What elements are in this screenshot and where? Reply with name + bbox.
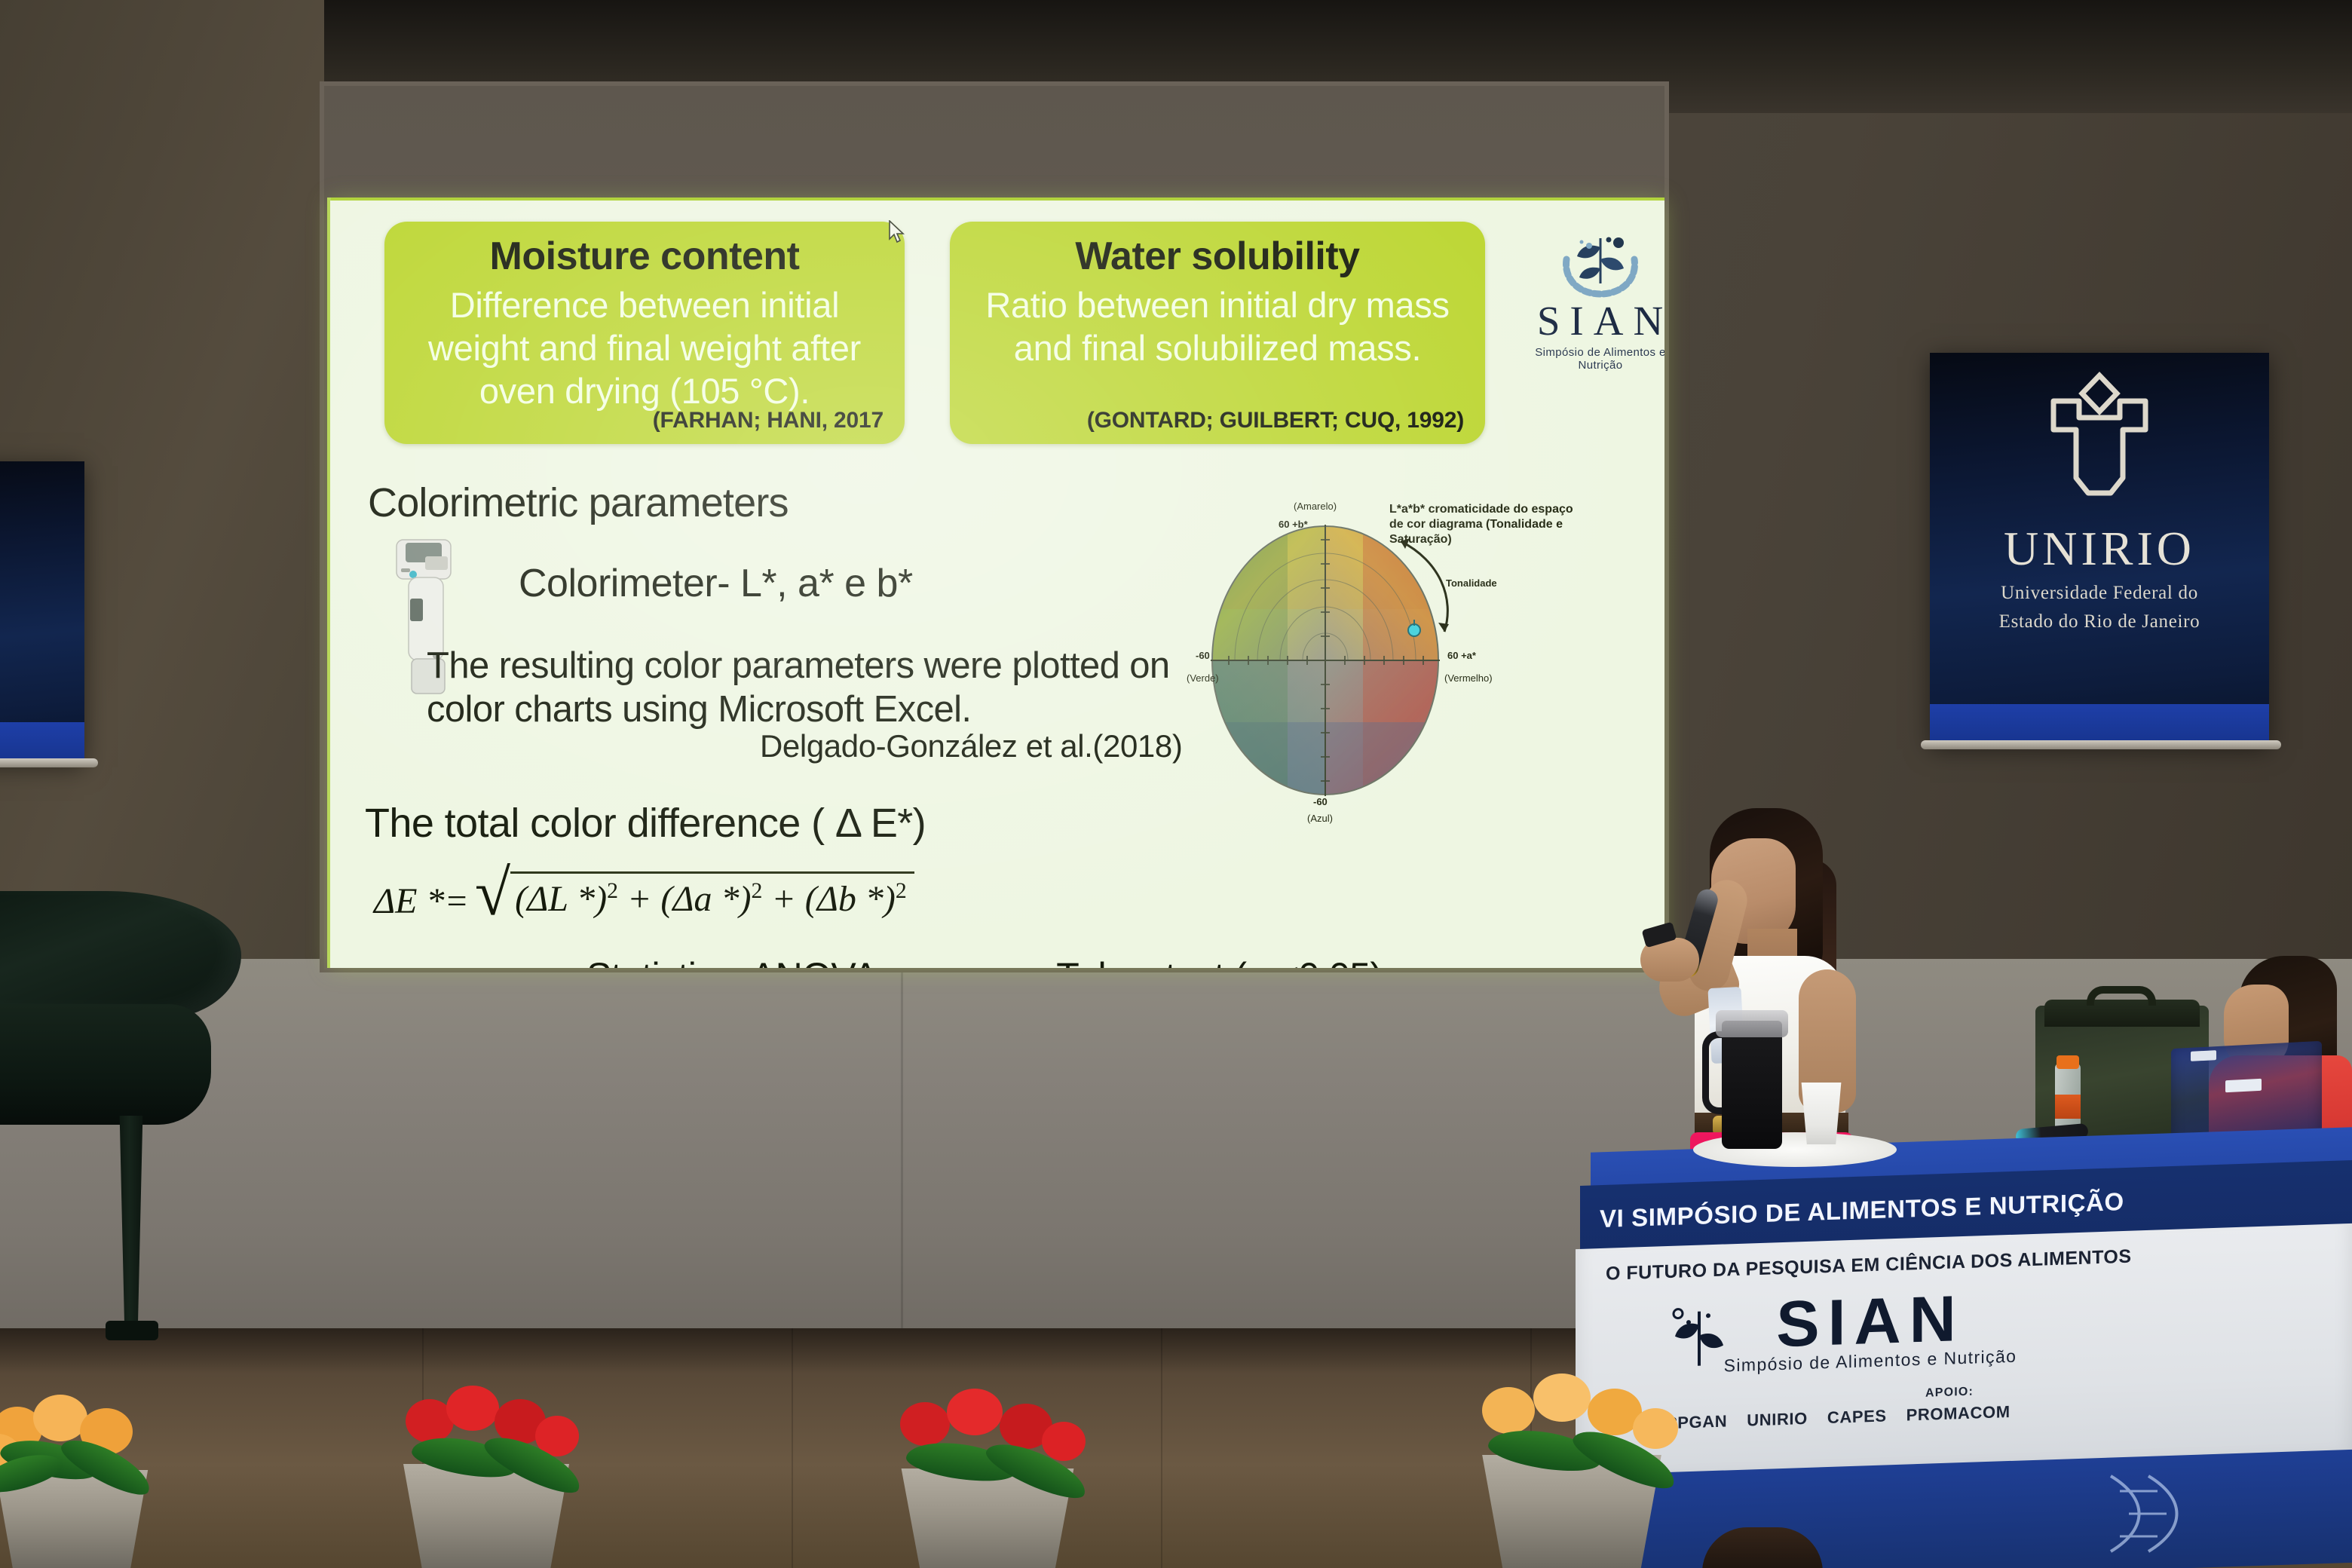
mouse-cursor-arrow-icon: [888, 220, 908, 244]
unirio-wordmark: UNIRIO: [1930, 521, 2269, 577]
orange-bloom: [1533, 1374, 1591, 1422]
lab-axis-left-value: -60: [1196, 650, 1210, 661]
red-bloom: [947, 1389, 1003, 1435]
moisture-content-title: Moisture content: [404, 234, 885, 279]
slide-sian-subtitle: Simpósio de Alimentos e Nutrição: [1515, 346, 1664, 372]
lab-axis-top-value: 60 +b*: [1279, 519, 1308, 530]
formula-term-2-exp: 2: [751, 878, 762, 903]
moisture-content-body: Difference between initial weight and fi…: [404, 283, 885, 412]
total-color-difference-heading: The total color difference ( Δ E*): [365, 800, 926, 847]
flower-planter-orange-left: [0, 1387, 211, 1568]
briefcase-handle: [2087, 986, 2156, 1006]
moisture-content-box: Moisture content Difference between init…: [384, 222, 905, 444]
unirio-subtitle-line2: Estado do Rio de Janeiro: [1930, 610, 2269, 634]
flower-planter-orange-right: [1470, 1372, 1726, 1568]
formula-term-3-base: (Δb *): [805, 879, 896, 919]
red-bloom: [900, 1402, 950, 1446]
unirio-banner-left: DO RO: [0, 461, 84, 763]
dna-helix-icon: [2103, 1468, 2246, 1559]
red-bloom: [446, 1386, 499, 1431]
statistics-line: Statistics: ANOVA one-way - Tukey test (…: [586, 954, 1382, 968]
laptop-sticker-small: [2191, 1050, 2216, 1061]
radical-sign-glyph: √: [475, 870, 510, 920]
symposium-title: VI SIMPÓSIO DE ALIMENTOS E NUTRIÇÃO: [1600, 1179, 2352, 1233]
unirio-crest-icon: [2028, 371, 2171, 518]
delta-e-formula: ΔE *= √ (ΔL *)2 + (Δa *)2 + (Δb *)2: [374, 870, 914, 922]
floor-plank-line: [1161, 1328, 1162, 1568]
wall-panel-seam: [901, 965, 903, 1342]
slide-sian-wordmark: SIAN: [1515, 297, 1664, 345]
sprout-leaf-icon: [1666, 1301, 1731, 1373]
lab-axis-bottom-value: -60: [1313, 796, 1328, 807]
formula-term-3-exp: 2: [896, 878, 907, 903]
unirio-subtitle-line1: Universidade Federal do: [1930, 581, 2269, 605]
water-solubility-citation: (GONTARD; GUILBERT; CUQ, 1992): [1087, 408, 1464, 433]
lab-axis-top-name: (Amarelo): [1294, 501, 1337, 512]
lab-tonalidade-arrow-label: Tonalidade: [1446, 577, 1497, 589]
water-solubility-title: Water solubility: [969, 234, 1465, 279]
table-sian-logo: SIAN Simpósio de Alimentos e Nutrição: [1716, 1284, 2025, 1377]
symposium-theme: O FUTURO DA PESQUISA EM CIÊNCIA DOS ALIM…: [1606, 1239, 2351, 1285]
unirio-left-line2: RO: [0, 666, 84, 691]
unirio-banner-blue-footer: [1930, 704, 2269, 745]
water-bottle-cap: [2056, 1055, 2079, 1069]
lab-axis-right-value: 60 +a*: [1447, 650, 1476, 661]
lab-axis-left-name: (Verde): [1187, 672, 1219, 684]
lab-axis-bottom-name: (Azul): [1307, 813, 1333, 824]
lab-diagram-caption: L*a*b* cromaticidade do espaço de cor di…: [1389, 502, 1585, 547]
formula-term-1-exp: 2: [607, 878, 618, 903]
presentation-photo-scene: Moisture content Difference between init…: [0, 0, 2352, 1568]
apoio-label: APOIO:: [1925, 1386, 1974, 1401]
moisture-content-citation: (FARHAN; HANI, 2017: [653, 408, 884, 433]
grand-piano-body: [0, 1004, 211, 1125]
formula-left-hand-side: ΔE *=: [374, 870, 469, 922]
formula-term-1-base: (ΔL *): [515, 879, 607, 919]
square-root-radical: √ (ΔL *)2 + (Δa *)2 + (Δb *)2: [475, 870, 914, 920]
floor-plank-line: [792, 1328, 793, 1568]
excel-plot-note: The resulting color parameters were plot…: [427, 644, 1188, 731]
water-solubility-body: Ratio between initial dry mass and final…: [969, 283, 1465, 369]
unirio-banner-left-content: DO RO: [0, 633, 84, 691]
sponsor-logo-promacom: PROMACOM: [1906, 1402, 2011, 1426]
unirio-banner-content: UNIRIO Universidade Federal do Estado do…: [1930, 371, 2269, 634]
grand-piano-caster: [106, 1321, 158, 1340]
slide-sian-logo: SIAN Simpósio de Alimentos e Nutrição: [1515, 225, 1664, 372]
unirio-banner-right: UNIRIO Universidade Federal do Estado do…: [1930, 353, 2269, 745]
water-solubility-box: Water solubility Ratio between initial d…: [950, 222, 1485, 444]
colorimeter-label: Colorimeter- L*, a* e b*: [519, 561, 913, 606]
sprout-leaf-wreath-icon: [1544, 225, 1657, 300]
orange-bloom: [33, 1395, 87, 1441]
radicand: (ΔL *)2 + (Δa *)2 + (Δb *)2: [510, 871, 914, 920]
flower-planter-red-3: [890, 1386, 1138, 1568]
lab-axis-right-name: (Vermelho): [1444, 672, 1493, 684]
black-travel-mug: [1722, 1021, 1782, 1149]
banner-bottom-rod-right: [1921, 740, 2281, 749]
unirio-banner-left-blue-footer: [0, 722, 84, 763]
sponsor-logo-unirio: UNIRIO: [1747, 1409, 1808, 1431]
colorimetric-parameters-heading: Colorimetric parameters: [368, 479, 789, 526]
orange-bloom: [1633, 1408, 1678, 1449]
delgado-gonzalez-citation: Delgado-González et al.(2018): [760, 728, 1182, 764]
sponsor-logo-capes: CAPES: [1827, 1406, 1887, 1428]
projected-slide: Moisture content Difference between init…: [330, 201, 1664, 968]
orange-bloom: [1482, 1387, 1535, 1434]
flower-planter-red-2: [392, 1381, 633, 1568]
sponsor-logo-row: PPGAN UNIRIO CAPES PROMACOM: [1666, 1395, 2209, 1433]
formula-term-2-base: (Δa *): [660, 879, 751, 919]
unirio-left-line1: DO: [0, 638, 84, 662]
travel-mug-lid: [1716, 1010, 1788, 1037]
water-bottle-label: [2055, 1095, 2081, 1119]
red-bloom: [1042, 1422, 1086, 1461]
banner-bottom-rod-left: [0, 758, 98, 767]
laptop-sticker: [2225, 1079, 2262, 1093]
